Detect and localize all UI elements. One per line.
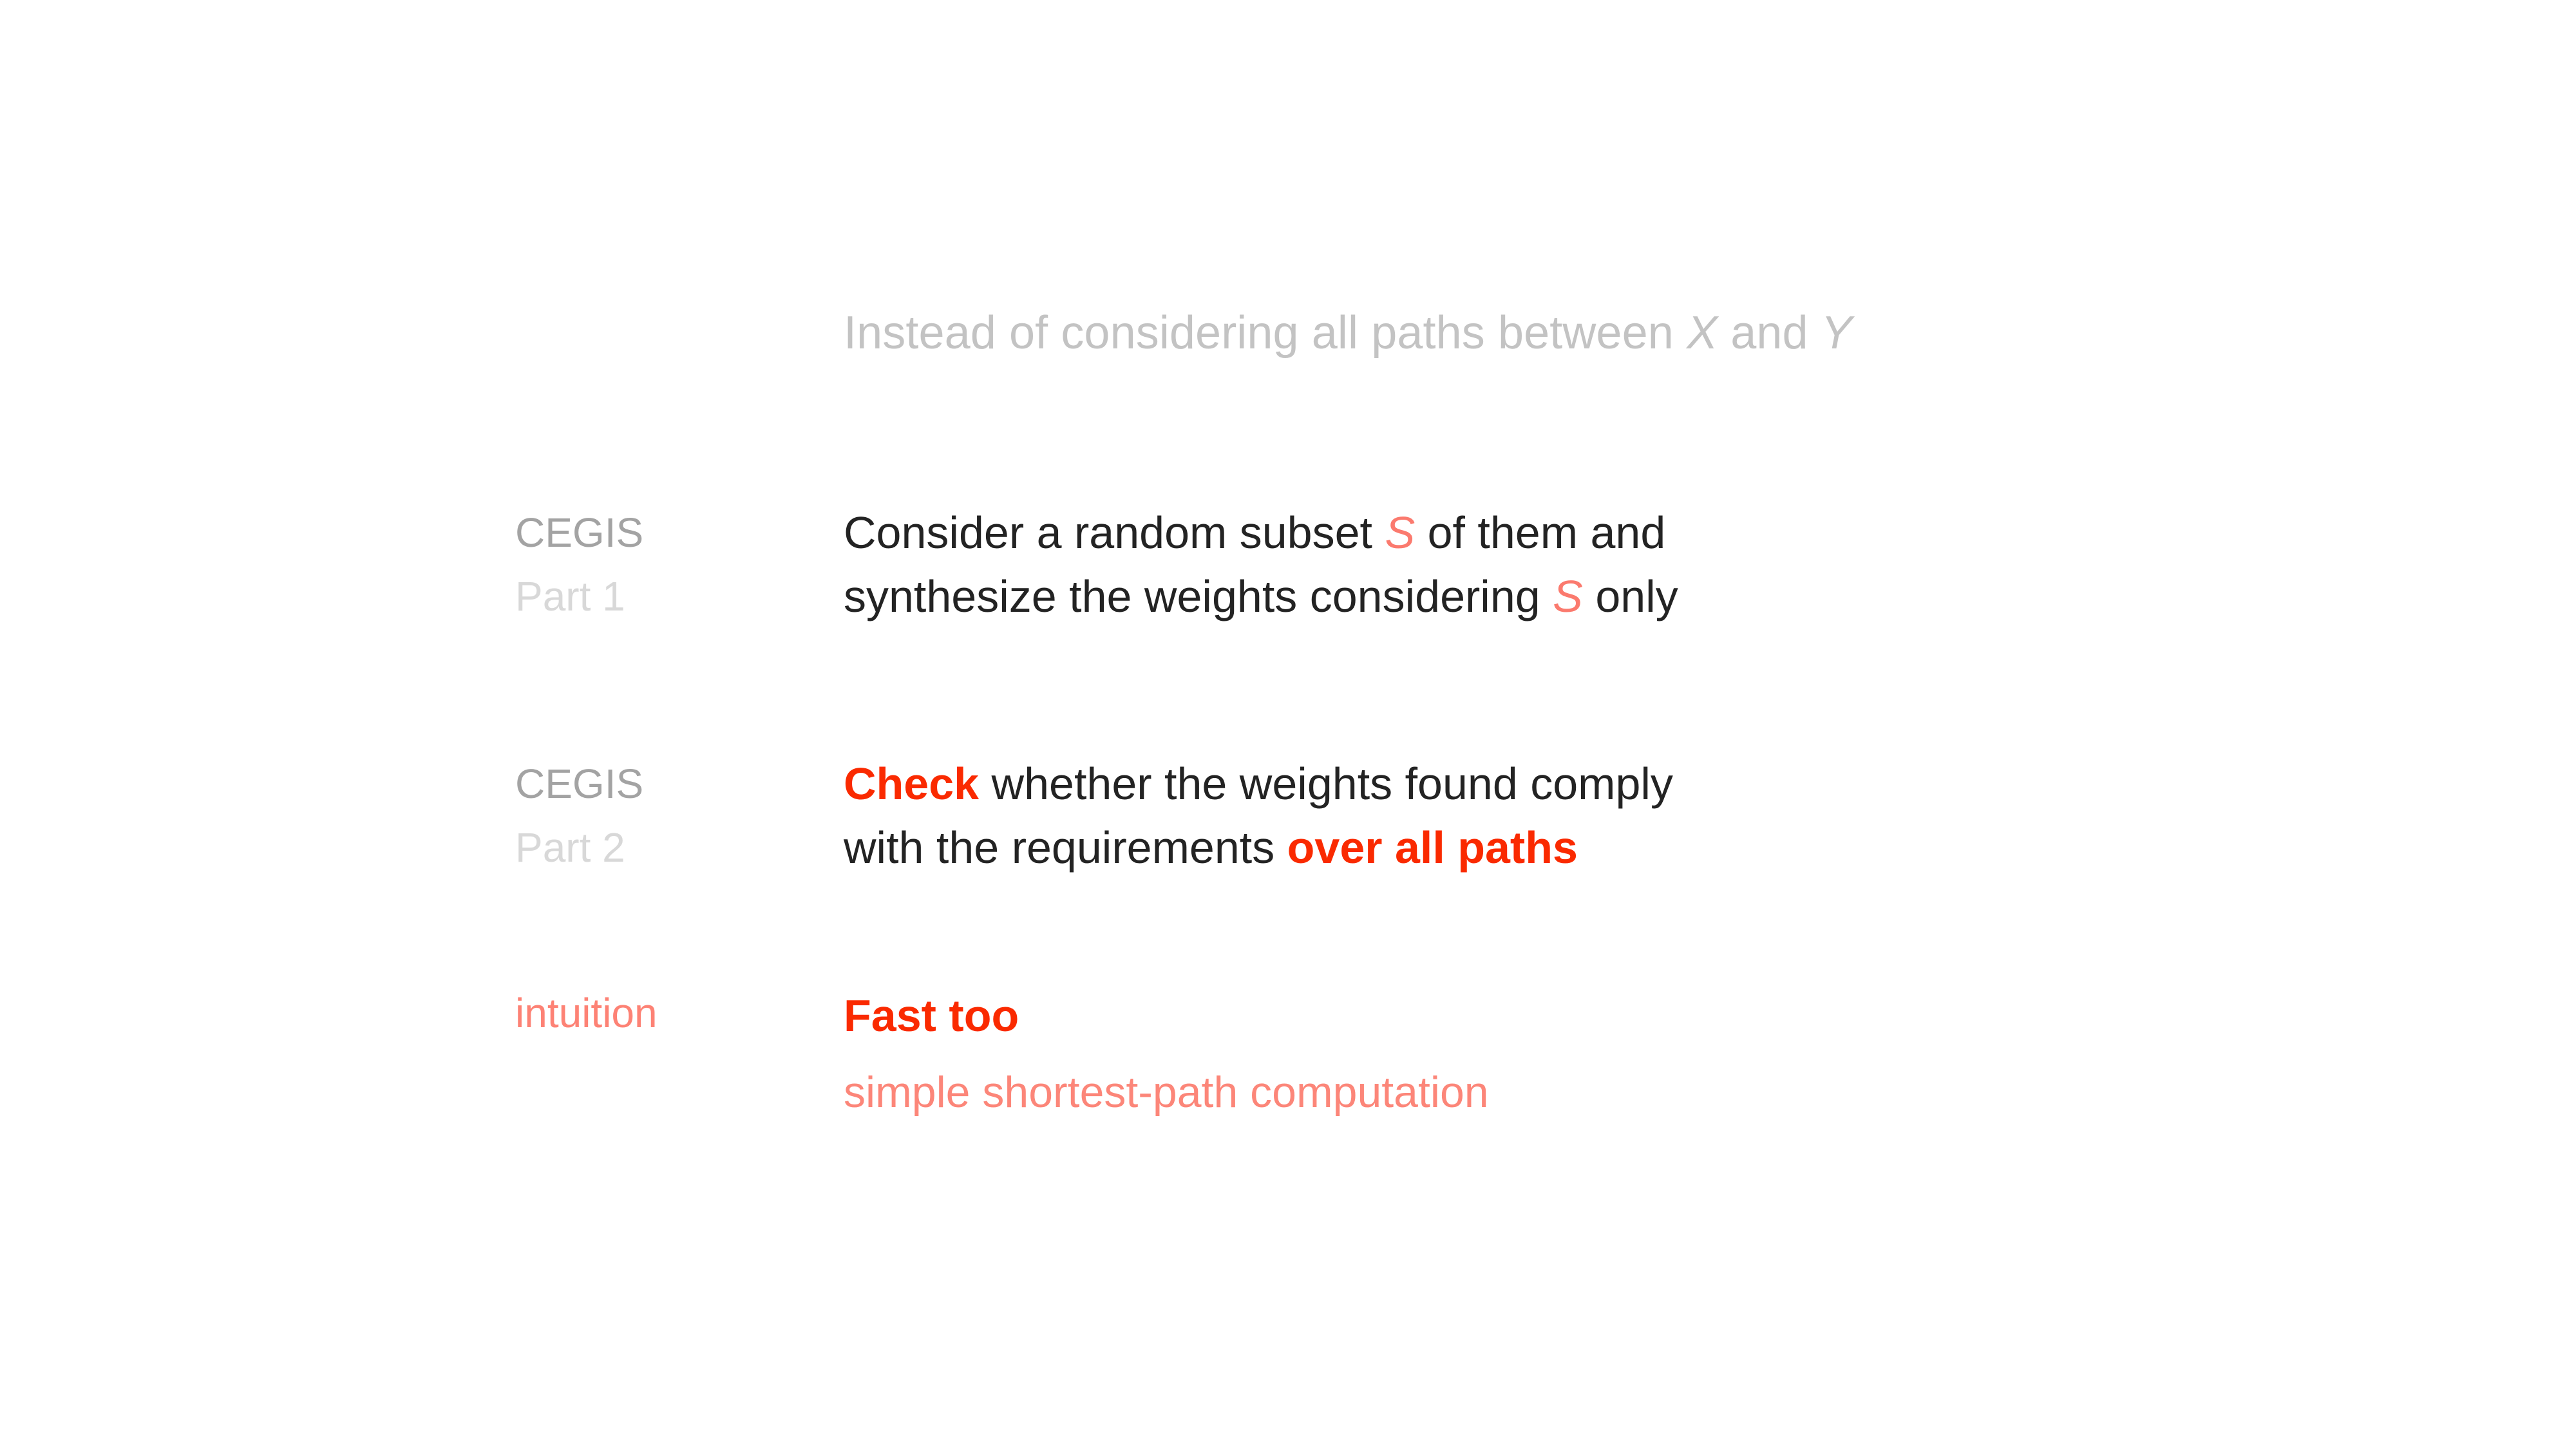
body-part2-check-keyword: Check bbox=[844, 759, 979, 809]
row-intuition: intuition Fast too simple shortest-path … bbox=[515, 984, 2190, 1138]
body-part2-over-all-paths-keyword: over all paths bbox=[1287, 822, 1578, 873]
label-cegis-part-2-line2: Part 2 bbox=[515, 816, 844, 880]
body-part1-line1-prefix: Consider a random subset bbox=[844, 507, 1385, 558]
row-cegis-part-2: CEGIS Part 2 Check whether the weights f… bbox=[515, 752, 2190, 880]
body-part1-line2-subset-symbol: S bbox=[1553, 571, 1583, 621]
body-part1-line2-suffix: only bbox=[1583, 571, 1678, 621]
body-part2-line2-prefix: with the requirements bbox=[844, 822, 1287, 873]
body-intuition-headline: Fast too bbox=[844, 984, 2190, 1048]
body-cegis-part-1-line2: synthesize the weights considering S onl… bbox=[844, 565, 2190, 629]
body-part1-line2-prefix: synthesize the weights considering bbox=[844, 571, 1553, 621]
label-intuition: intuition bbox=[515, 984, 844, 1043]
row-label-cegis-part-2: CEGIS Part 2 bbox=[515, 752, 844, 880]
body-part2-line1-rest: whether the weights found comply bbox=[979, 759, 1673, 809]
slide-canvas: Instead of considering all paths between… bbox=[0, 0, 2576, 1449]
row-body-cegis-part-1: Consider a random subset S of them and s… bbox=[844, 501, 2190, 629]
row-cegis-part-1: CEGIS Part 1 Consider a random subset S … bbox=[515, 501, 2190, 629]
body-intuition-subtext: simple shortest-path computation bbox=[844, 1048, 2190, 1137]
label-cegis-part-1-line2: Part 1 bbox=[515, 565, 844, 629]
row-body-intuition: Fast too simple shortest-path computatio… bbox=[844, 984, 2190, 1138]
row-body-cegis-part-2: Check whether the weights found comply w… bbox=[844, 752, 2190, 880]
lead-in-variable-y: Y bbox=[1821, 307, 1852, 359]
lead-in-text: Instead of considering all paths between… bbox=[844, 303, 1852, 364]
body-part1-line1-subset-symbol: S bbox=[1385, 507, 1415, 558]
row-label-cegis-part-1: CEGIS Part 1 bbox=[515, 501, 844, 629]
body-cegis-part-2-line2: with the requirements over all paths bbox=[844, 816, 2190, 880]
label-cegis-part-1-line1: CEGIS bbox=[515, 501, 844, 565]
body-cegis-part-1-line1: Consider a random subset S of them and bbox=[844, 501, 2190, 565]
body-cegis-part-2-line1: Check whether the weights found comply bbox=[844, 752, 2190, 816]
lead-in-prefix: Instead of considering all paths between bbox=[844, 307, 1687, 359]
label-cegis-part-2-line1: CEGIS bbox=[515, 752, 844, 816]
lead-in-variable-x: X bbox=[1687, 307, 1718, 359]
row-label-intuition: intuition bbox=[515, 984, 844, 1043]
lead-in-conjunction: and bbox=[1718, 307, 1821, 359]
body-part1-line1-suffix: of them and bbox=[1415, 507, 1665, 558]
